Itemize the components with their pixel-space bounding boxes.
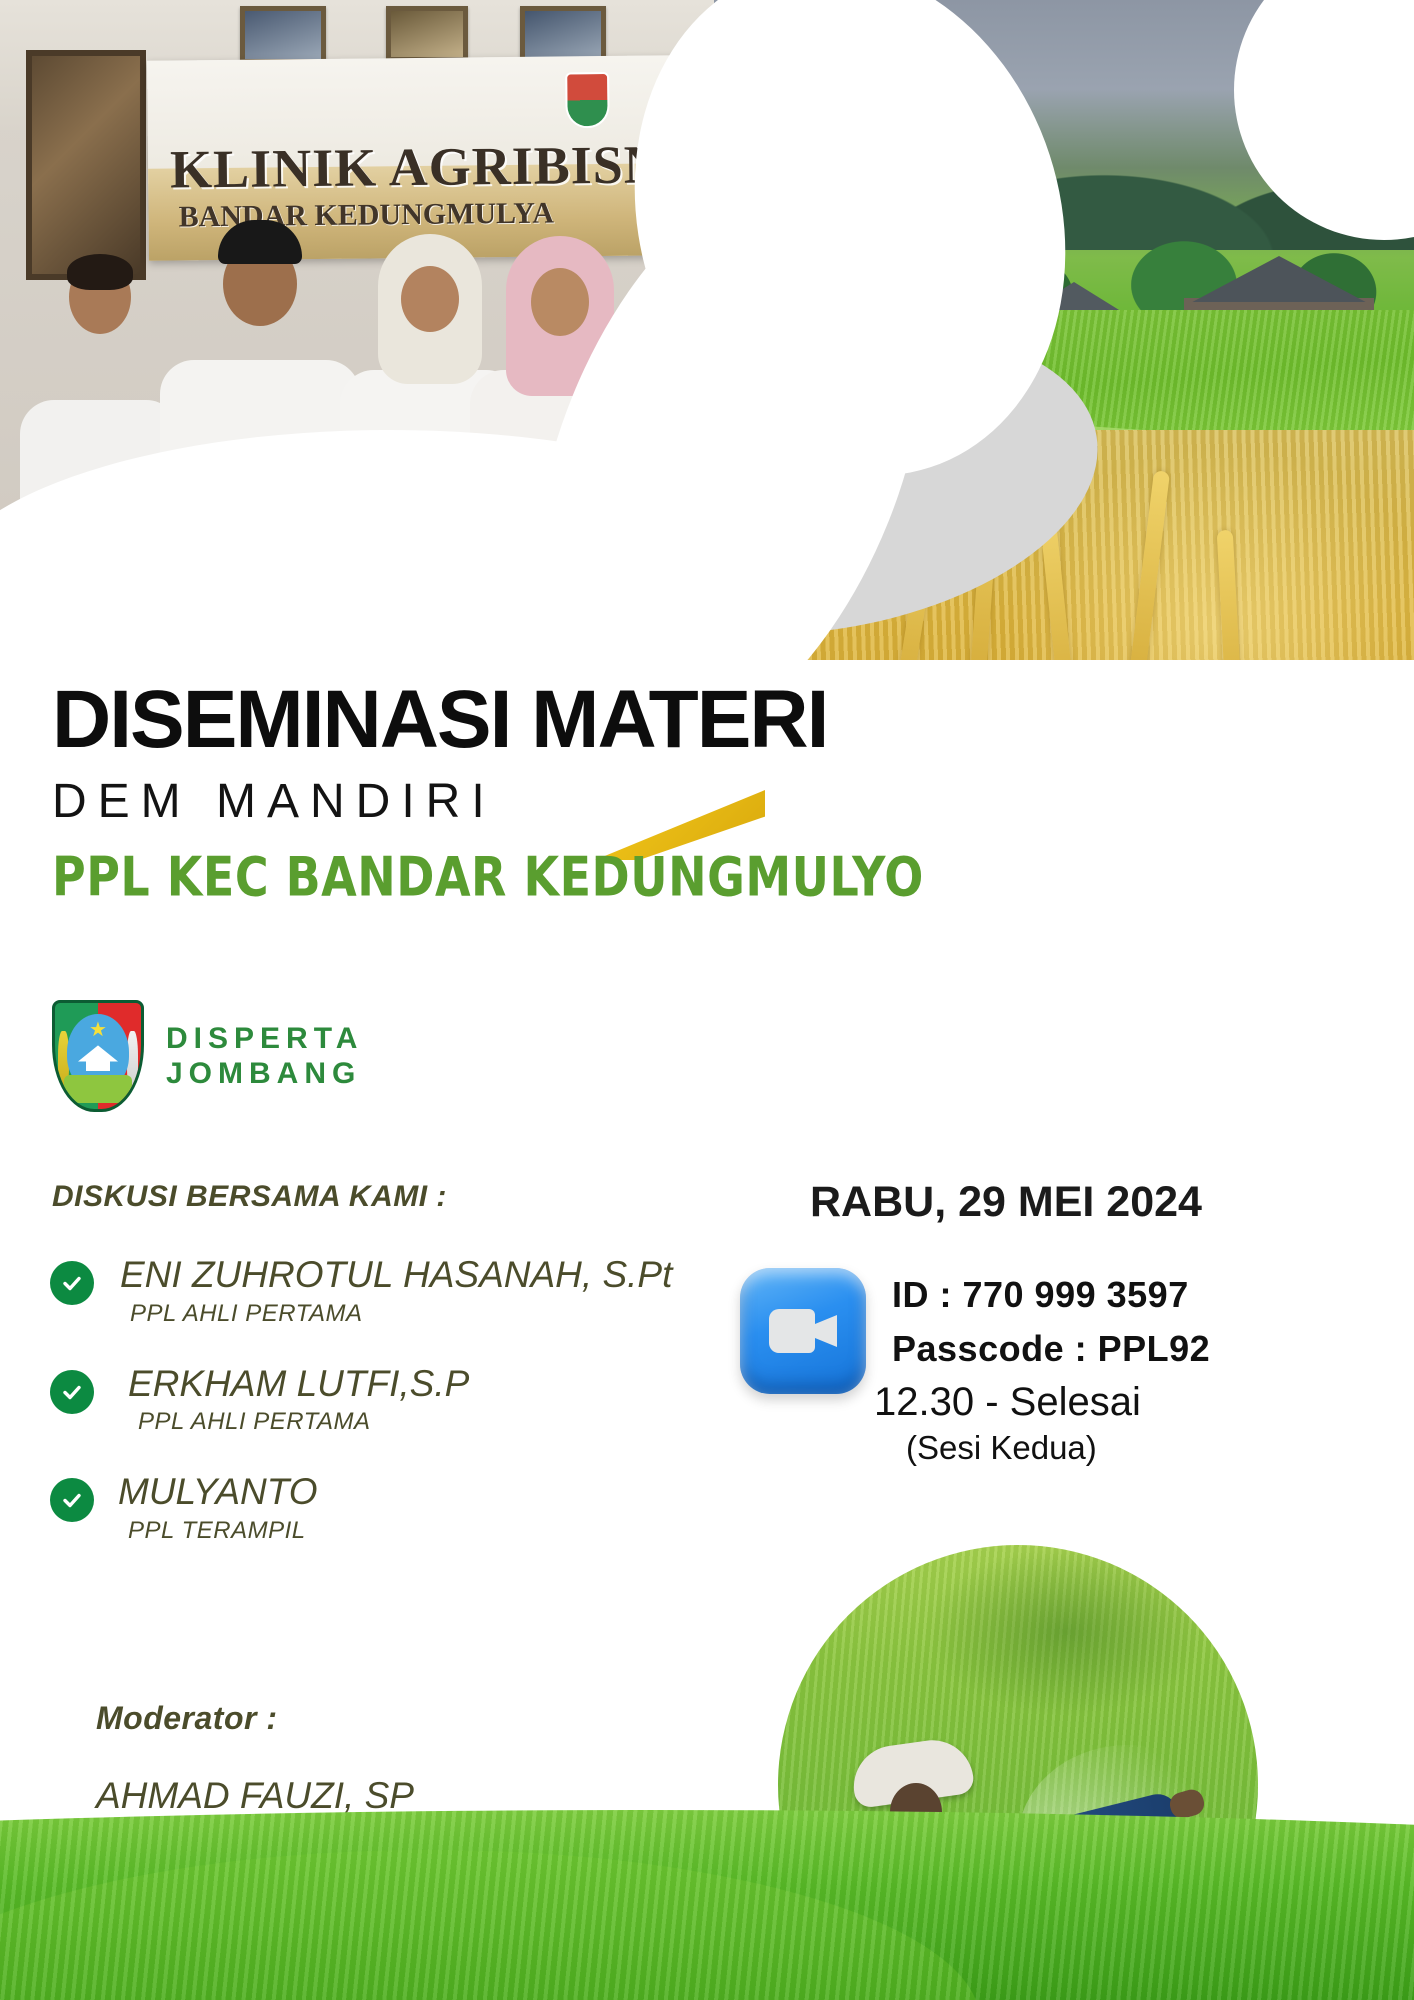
logo-text: DISPERTA JOMBANG — [166, 1021, 363, 1092]
check-circle-icon — [50, 1370, 94, 1414]
grass-footer — [0, 1810, 1414, 2000]
list-item: ENI ZUHROTUL HASANAH, S.Pt PPL AHLI PERT… — [50, 1255, 650, 1328]
moderator-name: AHMAD FAUZI, SP — [96, 1775, 414, 1817]
speaker-role: PPL AHLI PERTAMA — [138, 1408, 650, 1436]
speaker-role: PPL AHLI PERTAMA — [130, 1300, 650, 1328]
poster-root: KLINIK AGRIBISNIS BANDAR KEDUNGMULYA — [0, 0, 1414, 2000]
speaker-role: PPL TERAMPIL — [128, 1517, 650, 1545]
wooden-door — [26, 50, 146, 280]
speaker-name: ENI ZUHROTUL HASANAH, S.Pt — [120, 1255, 650, 1296]
speaker-name: ERKHAM LUTFI,S.P — [128, 1364, 650, 1405]
meeting-passcode: Passcode : PPL92 — [892, 1328, 1210, 1370]
wall-emblem-icon — [386, 6, 468, 62]
page-subtitle: DEM MANDIRI — [52, 774, 924, 829]
zoom-meeting-info: ID : 770 999 3597 Passcode : PPL92 12.30… — [740, 1268, 1210, 1467]
grass-hill — [0, 1850, 980, 2000]
top-image-band: KLINIK AGRIBISNIS BANDAR KEDUNGMULYA — [0, 0, 1414, 660]
disperta-logo: ★ DISPERTA JOMBANG — [52, 1000, 363, 1112]
check-circle-icon — [50, 1478, 94, 1522]
event-date: RABU, 29 MEI 2024 — [810, 1178, 1202, 1227]
speaker-name: MULYANTO — [118, 1472, 650, 1513]
list-item: MULYANTO PPL TERAMPIL — [50, 1472, 650, 1545]
banner-crest-icon — [565, 72, 610, 128]
list-item: ERKHAM LUTFI,S.P PPL AHLI PERTAMA — [50, 1364, 650, 1437]
speakers-list: ENI ZUHROTUL HASANAH, S.Pt PPL AHLI PERT… — [50, 1255, 650, 1581]
event-time: 12.30 - Selesai — [874, 1380, 1210, 1425]
title-block: DISEMINASI MATERI DEM MANDIRI PPL KEC BA… — [52, 680, 924, 899]
meeting-id: ID : 770 999 3597 — [892, 1274, 1210, 1316]
jombang-crest-icon: ★ — [52, 1000, 144, 1112]
page-org-line: PPL KEC BANDAR KEDUNGMULYO — [52, 845, 924, 909]
zoom-details: ID : 770 999 3597 Passcode : PPL92 12.30… — [892, 1268, 1210, 1467]
zoom-video-icon — [740, 1268, 866, 1394]
check-circle-icon — [50, 1261, 94, 1305]
logo-line-1: DISPERTA — [166, 1021, 363, 1056]
event-session: (Sesi Kedua) — [906, 1429, 1210, 1467]
page-title: DISEMINASI MATERI — [52, 680, 924, 760]
speakers-heading: DISKUSI BERSAMA KAMI : — [52, 1180, 447, 1214]
moderator-heading: Moderator : — [96, 1700, 414, 1737]
wall-frame-icon — [240, 6, 326, 64]
logo-line-2: JOMBANG — [166, 1056, 363, 1091]
